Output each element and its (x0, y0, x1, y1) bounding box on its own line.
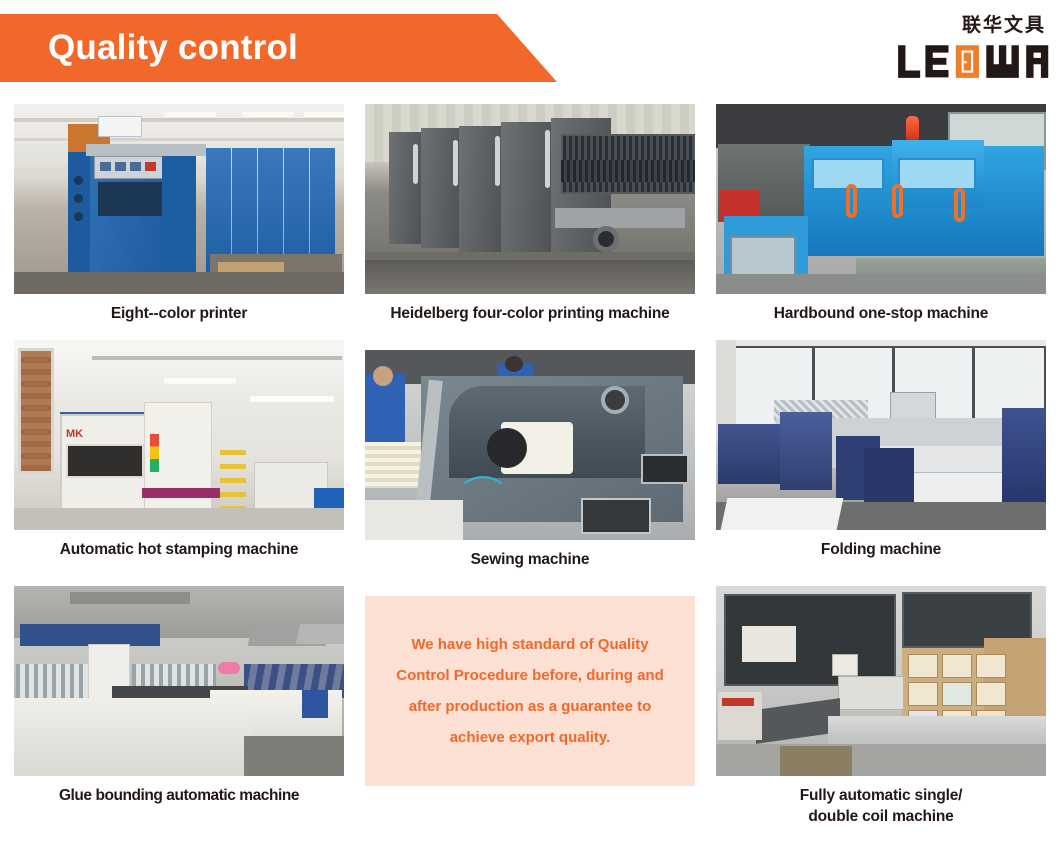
gallery-cell-eight-color-printer[interactable]: Eight--color printer (14, 104, 344, 324)
caption-folding: Folding machine (716, 530, 1046, 560)
caption-hot-stamping: Automatic hot stamping machine (14, 530, 344, 560)
photo-folding-machine (716, 340, 1046, 530)
photo-eight-color-printer (14, 104, 344, 294)
quality-note-text: We have high standard of Quality Control… (387, 629, 673, 753)
logo-chinese-name: 联华文具 (896, 14, 1048, 36)
gallery-cell-heidelberg[interactable]: Heidelberg four-color printing machine (365, 104, 695, 324)
caption-heidelberg: Heidelberg four-color printing machine (365, 294, 695, 324)
gallery-row-3: Glue bounding automatic machine We have … (14, 586, 1046, 827)
machine-gallery: Eight--color printer Heid (0, 104, 1060, 827)
photo-heidelberg-press (365, 104, 695, 294)
page-title: Quality control (48, 14, 298, 82)
gallery-cell-note: We have high standard of Quality Control… (365, 586, 695, 827)
caption-coil-line-2: double coil machine (808, 808, 953, 825)
gallery-cell-sewing[interactable]: Sewing machine (365, 340, 695, 570)
photo-coil-machine (716, 586, 1046, 776)
caption-eight-color-printer: Eight--color printer (14, 294, 344, 324)
gallery-cell-coil[interactable]: Fully automatic single/double coil machi… (716, 586, 1046, 827)
caption-coil-line-1: Fully automatic single/ (800, 787, 963, 804)
gallery-cell-glue-bounding[interactable]: Glue bounding automatic machine (14, 586, 344, 827)
company-logo: 联华文具 (896, 14, 1048, 84)
photo-glue-binding-line (14, 586, 344, 776)
caption-sewing: Sewing machine (365, 540, 695, 570)
caption-coil-machine: Fully automatic single/double coil machi… (716, 776, 1046, 827)
photo-hot-stamping-machine: MK (14, 340, 344, 530)
logo-wordmark-lenwa (896, 39, 1056, 81)
gallery-cell-folding[interactable]: Folding machine (716, 340, 1046, 570)
caption-glue-bounding: Glue bounding automatic machine (14, 776, 344, 806)
photo-sewing-machine (365, 350, 695, 540)
quality-note-panel: We have high standard of Quality Control… (365, 596, 695, 786)
gallery-row-2: MK Automatic hot stamping machine (14, 340, 1046, 570)
photo-hardbound-machine (716, 104, 1046, 294)
gallery-cell-hardbound[interactable]: Hardbound one-stop machine (716, 104, 1046, 324)
gallery-cell-hot-stamping[interactable]: MK Automatic hot stamping machine (14, 340, 344, 570)
gallery-row-1: Eight--color printer Heid (14, 104, 1046, 324)
caption-hardbound: Hardbound one-stop machine (716, 294, 1046, 324)
page-header: Quality control 联华文具 (0, 0, 1060, 104)
